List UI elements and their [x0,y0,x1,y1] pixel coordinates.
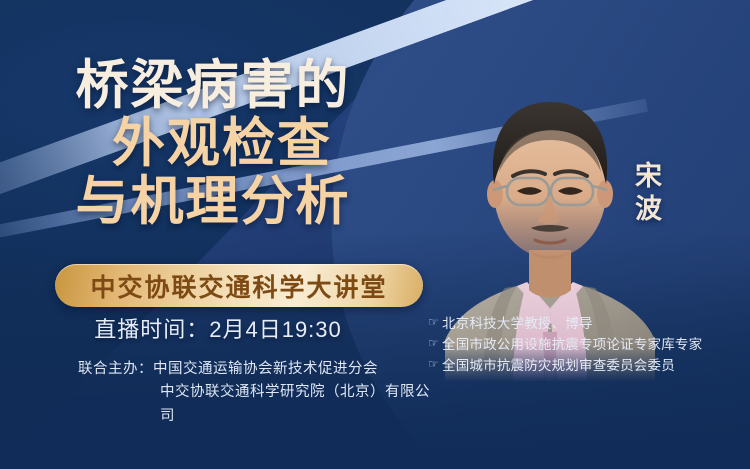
credential-text: 全国市政公用设施抗震专项论证专家库专家 [442,334,746,355]
pointing-hand-icon: ☞ [428,355,442,374]
organizer-line-2: 中交协联交通科学研究院（北京）有限公司 [62,381,442,428]
credential-item: ☞ 全国市政公用设施抗震专项论证专家库专家 [428,334,746,355]
pointing-hand-icon: ☞ [428,313,442,332]
credential-text: 北京科技大学教授、博导 [442,313,746,334]
poster-title: 桥梁病害的 外观检查 与机理分析 [0,58,430,231]
pointing-hand-icon: ☞ [428,334,442,353]
credential-text: 全国城市抗震防灾规划审查委员会委员 [442,355,746,376]
title-line-1: 桥梁病害的 [0,58,430,114]
title-line-3: 与机理分析 [0,174,430,230]
credential-item: ☞ 北京科技大学教授、博导 [428,313,746,334]
series-banner-label: 中交协联交通科学大讲堂 [90,268,387,304]
credential-item: ☞ 全国城市抗震防灾规划审查委员会委员 [428,355,746,376]
speaker-credentials: ☞ 北京科技大学教授、博导 ☞ 全国市政公用设施抗震专项论证专家库专家 ☞ 全国… [428,313,746,377]
webinar-poster: 桥梁病害的 外观检查 与机理分析 中交协联交通科学大讲堂 直播时间：2月4日19… [0,0,750,469]
organizer-line-1: 联合主办：中国交通运输协会新技术促进分会 [62,358,442,381]
live-time: 直播时间：2月4日19:30 [0,312,436,344]
title-line-2: 外观检查 [14,116,430,172]
series-banner: 中交协联交通科学大讲堂 [55,264,423,307]
speaker-name: 宋波 [629,160,669,226]
organizers: 联合主办：中国交通运输协会新技术促进分会 中交协联交通科学研究院（北京）有限公司 [62,358,442,428]
